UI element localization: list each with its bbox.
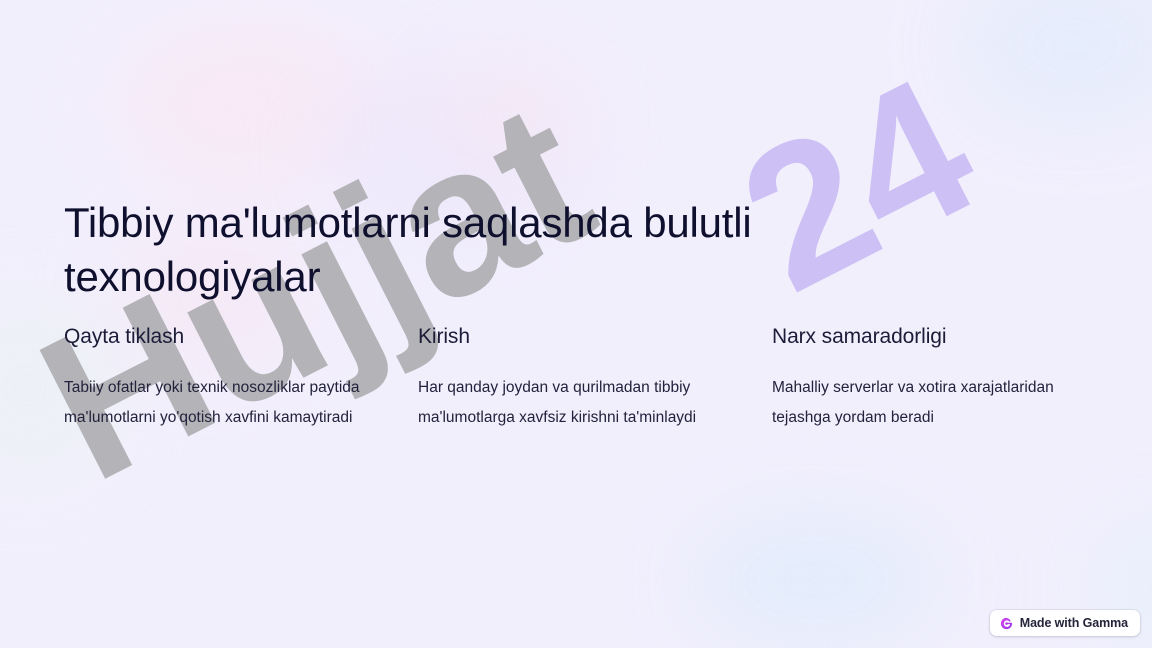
column-body: Mahalliy serverlar va xotira xarajatlari… [772,373,1068,433]
column-heading: Qayta tiklash [64,325,360,349]
feature-columns: Qayta tiklash Tabiiy ofatlar yoki texnik… [64,325,1088,433]
feature-column-cost: Narx samaradorligi Mahalliy serverlar va… [772,325,1068,433]
column-body: Har qanday joydan va qurilmadan tibbiy m… [418,373,714,433]
page-title: Tibbiy ma'lumotlarni saqlashda bulutli t… [64,196,884,304]
gamma-logo-icon [1000,617,1013,630]
slide-canvas: 24 Hujjat Tibbiy ma'lumotlarni saqlashda… [0,0,1152,648]
made-with-gamma-badge[interactable]: Made with Gamma [990,610,1140,636]
column-heading: Narx samaradorligi [772,325,1068,349]
feature-column-access: Kirish Har qanday joydan va qurilmadan t… [418,325,714,433]
slide-content: Tibbiy ma'lumotlarni saqlashda bulutli t… [0,0,1152,648]
made-with-gamma-label: Made with Gamma [1020,616,1128,630]
feature-column-recovery: Qayta tiklash Tabiiy ofatlar yoki texnik… [64,325,360,433]
column-heading: Kirish [418,325,714,349]
column-body: Tabiiy ofatlar yoki texnik nosozliklar p… [64,373,360,433]
